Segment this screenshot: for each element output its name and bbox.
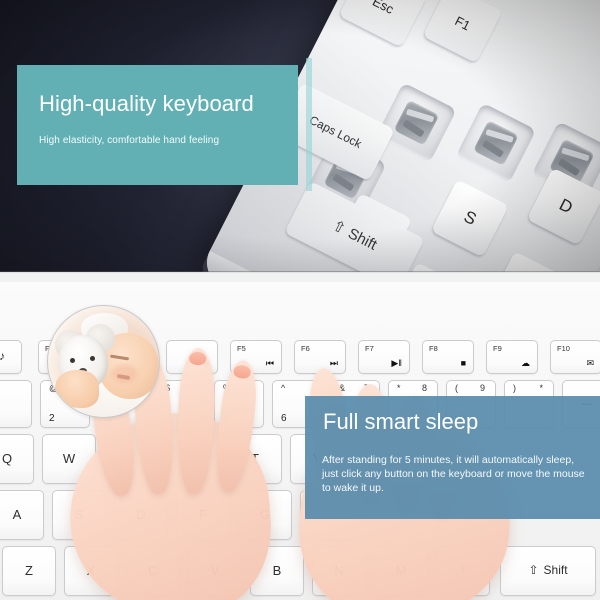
key-f10[interactable]: F10 ✉ xyxy=(550,340,600,374)
key-z[interactable]: Z xyxy=(2,546,56,596)
key-f8[interactable]: F8 ■ xyxy=(422,340,474,374)
caption-high-quality-keyboard: High-quality keyboard High elasticity, c… xyxy=(17,65,298,185)
caption-title: Full smart sleep xyxy=(323,409,478,435)
panel-divider xyxy=(0,271,600,273)
shift-arrow-icon: ⇧ xyxy=(528,564,538,577)
caption-title: High-quality keyboard xyxy=(39,91,254,117)
key-a[interactable]: A xyxy=(0,490,44,540)
product-banner-page: Esc F1 F D S A V C X Z Caps Lock ⇧Shift … xyxy=(0,0,600,600)
key-1[interactable] xyxy=(0,380,32,428)
caption-body: After standing for 5 minutes, it will au… xyxy=(322,454,590,496)
sleeping-baby-overlay xyxy=(47,305,160,418)
mail-icon: ✉ xyxy=(586,359,594,369)
prev-track-icon: ⏮ xyxy=(266,359,274,369)
key-f7[interactable]: F7 ▶‖ xyxy=(358,340,410,374)
music-note-icon: ♪ xyxy=(0,350,5,363)
key-q[interactable]: Q xyxy=(0,434,34,484)
speaker-icon: ☁ xyxy=(521,359,530,369)
caption-accent-bar xyxy=(306,58,312,191)
play-pause-icon: ▶‖ xyxy=(391,359,402,369)
stop-icon: ■ xyxy=(461,359,466,369)
caption-full-smart-sleep: Full smart sleep After standing for 5 mi… xyxy=(305,396,600,519)
key-shift-right[interactable]: ⇧Shift xyxy=(500,546,596,596)
next-track-icon: ⏭ xyxy=(330,359,338,369)
caption-subtitle: High elasticity, comfortable hand feelin… xyxy=(39,135,219,146)
key-f9[interactable]: F9 ☁ xyxy=(486,340,538,374)
key-music[interactable]: ♪ xyxy=(0,340,22,374)
